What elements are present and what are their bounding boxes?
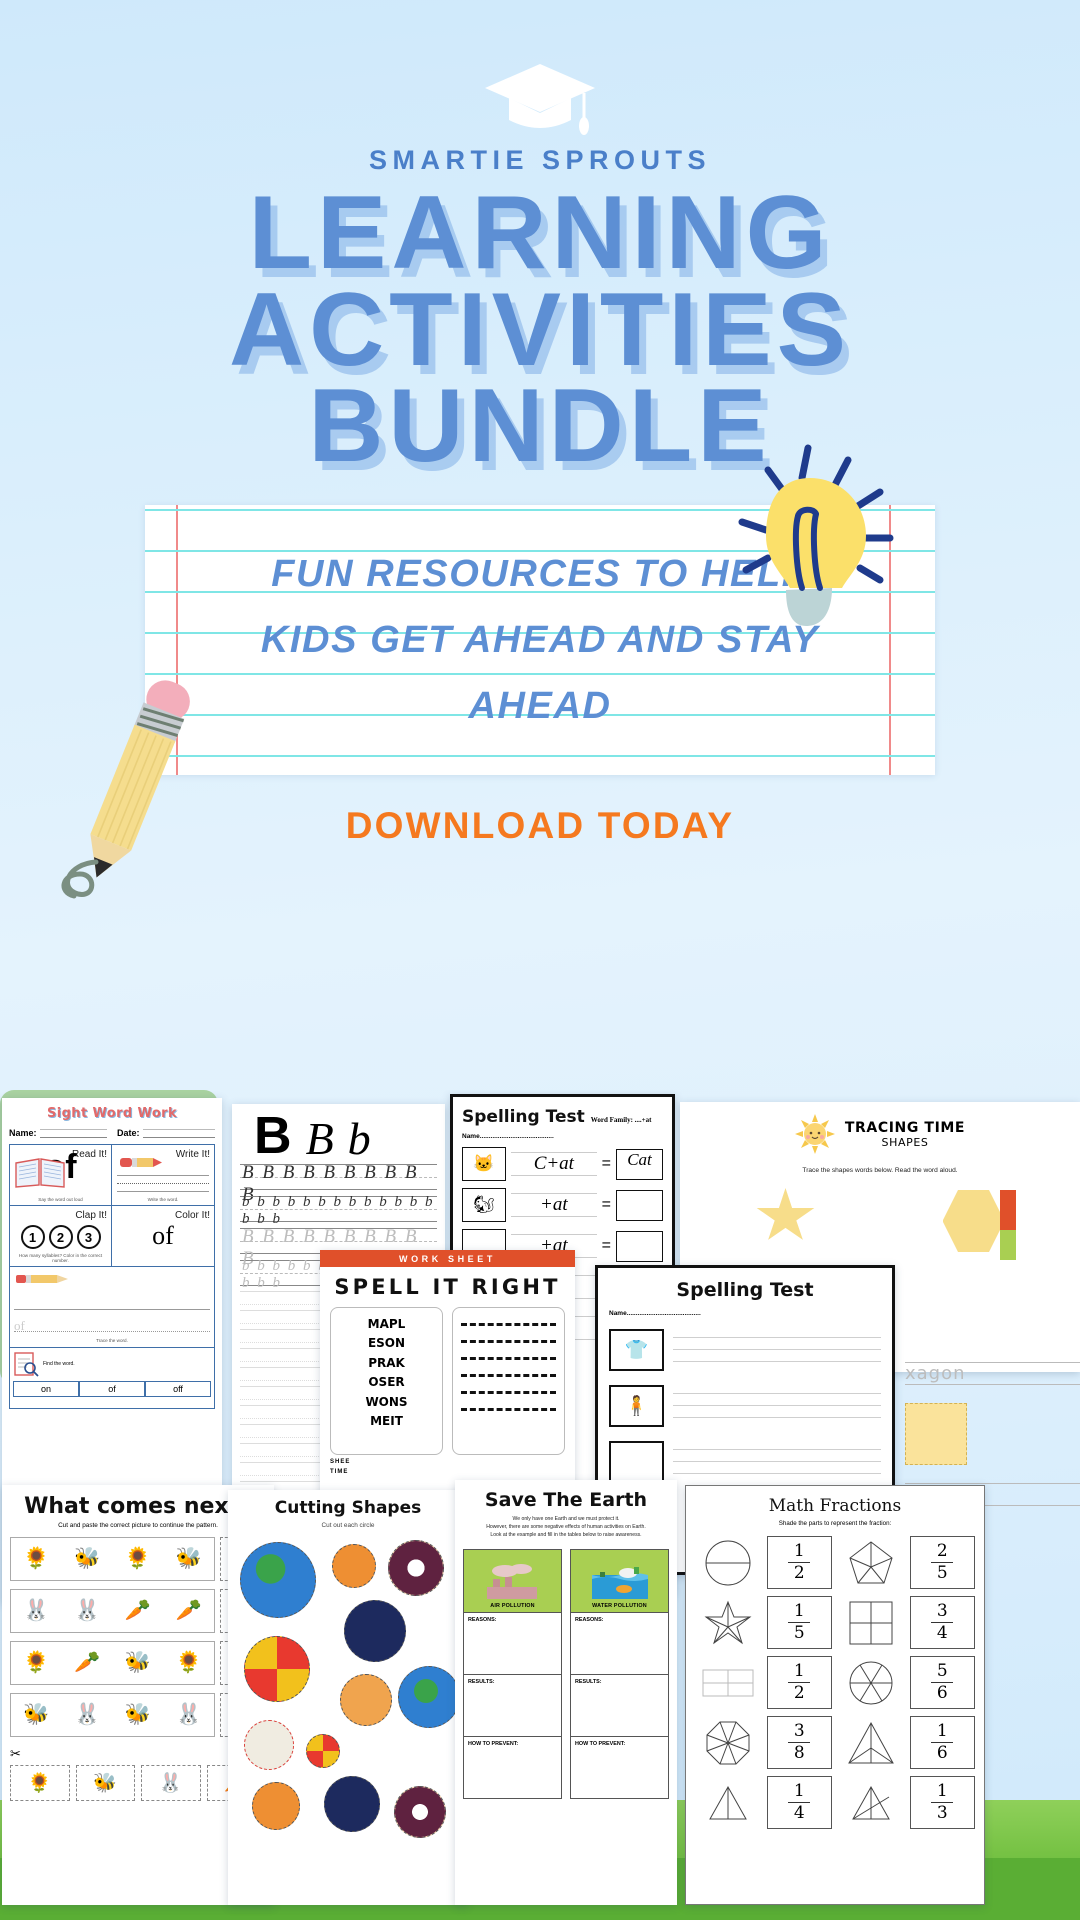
block-letter-b: B	[254, 1114, 292, 1158]
cut-circle-earth[interactable]	[240, 1542, 316, 1618]
word-item: ESON	[337, 1334, 436, 1353]
answer-lines[interactable]	[673, 1326, 881, 1373]
open-book-icon	[14, 1155, 66, 1189]
trace-row[interactable]: B B B B B B B B B B	[240, 1164, 437, 1190]
cut-circle-bacon-egg-2[interactable]	[324, 1776, 380, 1832]
cell-clap-it: Clap It! 1 2 3 How many syllables? Color…	[10, 1206, 112, 1266]
math-fractions-title: Math Fractions	[695, 1496, 975, 1516]
fraction-value: 12	[767, 1656, 833, 1709]
fraction-shape-triangle-small2	[838, 1776, 904, 1829]
field-prevent[interactable]: HOW TO PREVENT:	[464, 1736, 561, 1798]
instructions-line-2: However, there are some negative effects…	[463, 1524, 669, 1532]
cell-read-it: Read It! of Say the word out loud	[10, 1145, 112, 1205]
brand-name: SMARTIE SPROUTS	[0, 145, 1080, 176]
cut-circle-basketball-2[interactable]	[252, 1782, 300, 1830]
spelling-row: 🐱 C+at = Cat	[462, 1147, 663, 1181]
fraction-shape-octagon-eighths	[695, 1716, 761, 1769]
field-results[interactable]: RESULTS:	[571, 1674, 668, 1736]
field-prevent[interactable]: HOW TO PREVENT:	[571, 1736, 668, 1798]
word-option[interactable]: of	[79, 1381, 145, 1397]
squirrel-icon: 🐿	[462, 1188, 506, 1222]
pattern-strip: 🌻🥕🐝🌻	[10, 1641, 215, 1685]
answer-box[interactable]: Cat	[616, 1149, 663, 1180]
spelling-row: 🐿 +at =	[462, 1188, 663, 1222]
pencil-icon	[117, 1153, 163, 1171]
decor-stripe-red	[1000, 1190, 1016, 1230]
cut-circle-donut[interactable]	[388, 1540, 444, 1596]
cell-write-it: Write It! Write the word.	[112, 1145, 214, 1205]
cut-circle-donut-2[interactable]	[394, 1786, 446, 1838]
cursive-upper-b: B	[306, 1119, 334, 1158]
decor-stripe-green	[1000, 1230, 1016, 1260]
instructions-line-1: We only have one Earth and we must prote…	[463, 1516, 669, 1524]
word-option[interactable]: off	[145, 1381, 211, 1397]
word-item: PRAK	[337, 1354, 436, 1373]
fraction-shape-triangle-small	[695, 1776, 761, 1829]
trace-word-hexagon[interactable]: xagon	[905, 1362, 1080, 1385]
word-item: WONS	[337, 1393, 436, 1412]
pollution-label: WATER POLLUTION	[592, 1603, 647, 1609]
save-the-earth-title: Save The Earth	[463, 1489, 669, 1511]
name-label[interactable]: Name....................................…	[462, 1133, 663, 1140]
answer-box-list[interactable]	[452, 1307, 565, 1455]
tracing-subtitle: SHAPES	[845, 1136, 965, 1149]
fraction-shape-rect-quarters	[695, 1656, 761, 1709]
person-icon: 🧍	[609, 1385, 664, 1427]
tshirt-icon: 👕	[609, 1329, 664, 1371]
answer-box[interactable]	[616, 1231, 663, 1262]
cut-circle-pizza[interactable]	[340, 1674, 392, 1726]
fraction-shape-pentagon-fifths	[838, 1536, 904, 1589]
field-reasons[interactable]: REASONS:	[571, 1612, 668, 1674]
cut-circle-beachball[interactable]	[244, 1636, 310, 1702]
shape-hexagon	[943, 1188, 1005, 1254]
cell-label: Color It!	[116, 1210, 210, 1221]
worksheet-collage: Sight Word Work Name: Date: Read It!	[0, 1090, 1080, 1920]
footer-time-label: TIME	[320, 1465, 575, 1475]
cell-color-it: Color It! of	[112, 1206, 214, 1266]
magnifier-note-icon	[13, 1351, 39, 1377]
pencil-icon	[14, 1271, 70, 1287]
spelling-test-title: Spelling Test	[462, 1107, 585, 1127]
cursive-lower-b: b	[348, 1119, 371, 1158]
cut-circle-earth-2[interactable]	[398, 1666, 460, 1728]
worksheet-math-fractions[interactable]: Math Fractions Shade the parts to repres…	[685, 1485, 985, 1905]
fraction-shape-circle-halves	[695, 1536, 761, 1589]
picture-box	[609, 1441, 664, 1483]
word-list-box: MAPL ESON PRAK OSER WONS MEIT	[330, 1307, 443, 1455]
lightbulb-icon	[690, 430, 920, 660]
word-item: MEIT	[337, 1412, 436, 1431]
fraction-value: 13	[910, 1776, 976, 1829]
cutting-shapes-title: Cutting Shapes	[236, 1498, 460, 1518]
worksheet-save-the-earth[interactable]: Save The Earth We only have one Earth an…	[455, 1480, 677, 1905]
outline-word: of	[116, 1221, 210, 1251]
syllable-1[interactable]: 1	[21, 1225, 45, 1249]
find-caption: Find the word.	[43, 1361, 75, 1367]
fraction-shape-square-quarters	[838, 1596, 904, 1649]
trace-caption: Trace the word.	[14, 1338, 210, 1343]
sight-word-grid: Read It! of Say the word out loud Write …	[9, 1144, 215, 1409]
spell-it-right-title: SPELL IT RIGHT	[320, 1275, 575, 1299]
factory-icon: AIR POLLUTION	[464, 1550, 561, 1612]
title-line-1: LEARNING	[0, 185, 1080, 282]
sight-word-date-label: Date:	[117, 1128, 140, 1138]
fraction-value: 56	[910, 1656, 976, 1709]
cell-label: Clap It!	[14, 1210, 107, 1221]
pattern-strip: 🌻🐝🌻🐝	[10, 1537, 215, 1581]
pattern-strip: 🐰🐰🥕🥕	[10, 1589, 215, 1633]
cell-caption: How many syllables? Color in the correct…	[10, 1253, 111, 1263]
fraction-value: 38	[767, 1716, 833, 1769]
worksheet-band: WORK SHEET	[320, 1250, 575, 1267]
tracing-title: TRACING TIME	[845, 1120, 965, 1136]
cut-circle-beachball-2[interactable]	[306, 1734, 340, 1768]
word-item: MAPL	[337, 1315, 436, 1334]
spelling-test-2-title: Spelling Test	[609, 1279, 881, 1301]
spelling-row: 👕	[609, 1326, 881, 1373]
cell-caption: Say the word out loud	[10, 1197, 111, 1202]
cell-find: Find the word. on of off	[10, 1348, 214, 1408]
cell-caption: Write the word.	[112, 1197, 214, 1202]
fraction-value: 15	[767, 1596, 833, 1649]
fraction-value: 12	[767, 1536, 833, 1589]
field-results[interactable]: RESULTS:	[464, 1674, 561, 1736]
sight-word-title: Sight Word Work	[9, 1106, 215, 1121]
sun-icon	[795, 1114, 835, 1154]
title-line-2: ACTIVITIES	[0, 282, 1080, 379]
trace-row[interactable]: b b b b b b b b b b b b b b b b	[240, 1196, 437, 1222]
instructions-line-3: Look at the example and fill in the tabl…	[463, 1532, 669, 1540]
pollution-label: AIR POLLUTION	[490, 1603, 535, 1609]
word-item: OSER	[337, 1373, 436, 1392]
word-family-label: Word Family: ....+at	[591, 1116, 652, 1124]
answer-box[interactable]	[616, 1190, 663, 1221]
date-field[interactable]	[143, 1129, 215, 1138]
water-pollution-icon: WATER POLLUTION	[571, 1550, 668, 1612]
shape-square	[905, 1403, 967, 1465]
download-cta[interactable]: DOWNLOAD TODAY	[0, 805, 1080, 847]
spelling-row: 🧍	[609, 1382, 881, 1429]
field-reasons[interactable]: REASONS:	[464, 1612, 561, 1674]
sight-word-name-label: Name:	[9, 1128, 37, 1138]
equation: C+at	[511, 1152, 597, 1176]
tracing-instructions: Trace the shapes words below. Read the w…	[692, 1167, 1068, 1174]
worksheet-cutting-shapes[interactable]: Cutting Shapes Cut out each circle	[228, 1490, 468, 1905]
shape-star	[756, 1188, 816, 1245]
cutout-rabbit[interactable]: 🐰	[141, 1765, 201, 1801]
hero-section: SMARTIE SPROUTS LEARNING ACTIVITIES BUND…	[0, 0, 1080, 1095]
cutout-sunflower[interactable]: 🌻	[10, 1765, 70, 1801]
pollution-column-air: AIR POLLUTION REASONS: RESULTS: HOW TO P…	[463, 1549, 562, 1799]
answer-lines[interactable]	[673, 1438, 881, 1485]
cut-circle-basketball[interactable]	[332, 1544, 376, 1588]
fraction-value: 34	[910, 1596, 976, 1649]
pattern-strip: 🐝🐰🐝🐰	[10, 1693, 215, 1737]
pencil-icon	[40, 650, 240, 900]
fraction-shape-star-fifths	[695, 1596, 761, 1649]
fraction-value: 16	[910, 1716, 976, 1769]
fraction-shape-circle-sixths	[838, 1656, 904, 1709]
cell-trace: of Trace the word.	[10, 1267, 214, 1347]
pollution-column-water: WATER POLLUTION REASONS: RESULTS: HOW TO…	[570, 1549, 669, 1799]
cut-circle-clock[interactable]	[244, 1720, 294, 1770]
name-label[interactable]: Name....................................…	[609, 1310, 881, 1317]
answer-lines[interactable]	[673, 1382, 881, 1429]
fraction-value: 14	[767, 1776, 833, 1829]
cut-circle-bacon-egg[interactable]	[344, 1600, 406, 1662]
syllable-3[interactable]: 3	[77, 1225, 101, 1249]
cutout-bee[interactable]: 🐝	[76, 1765, 136, 1801]
math-fractions-instructions: Shade the parts to represent the fractio…	[695, 1520, 975, 1527]
fraction-value: 25	[910, 1536, 976, 1589]
syllable-2[interactable]: 2	[49, 1225, 73, 1249]
name-field[interactable]	[40, 1129, 107, 1138]
word-option[interactable]: on	[13, 1381, 79, 1397]
fraction-shape-triangle-thirds	[838, 1716, 904, 1769]
cutting-shapes-instructions: Cut out each circle	[236, 1522, 460, 1529]
equation: +at	[511, 1193, 597, 1217]
graduation-cap-icon	[481, 60, 599, 138]
cat-icon: 🐱	[462, 1147, 506, 1181]
footer-sheet-label: SHEE	[320, 1455, 575, 1465]
spelling-row	[609, 1438, 881, 1485]
